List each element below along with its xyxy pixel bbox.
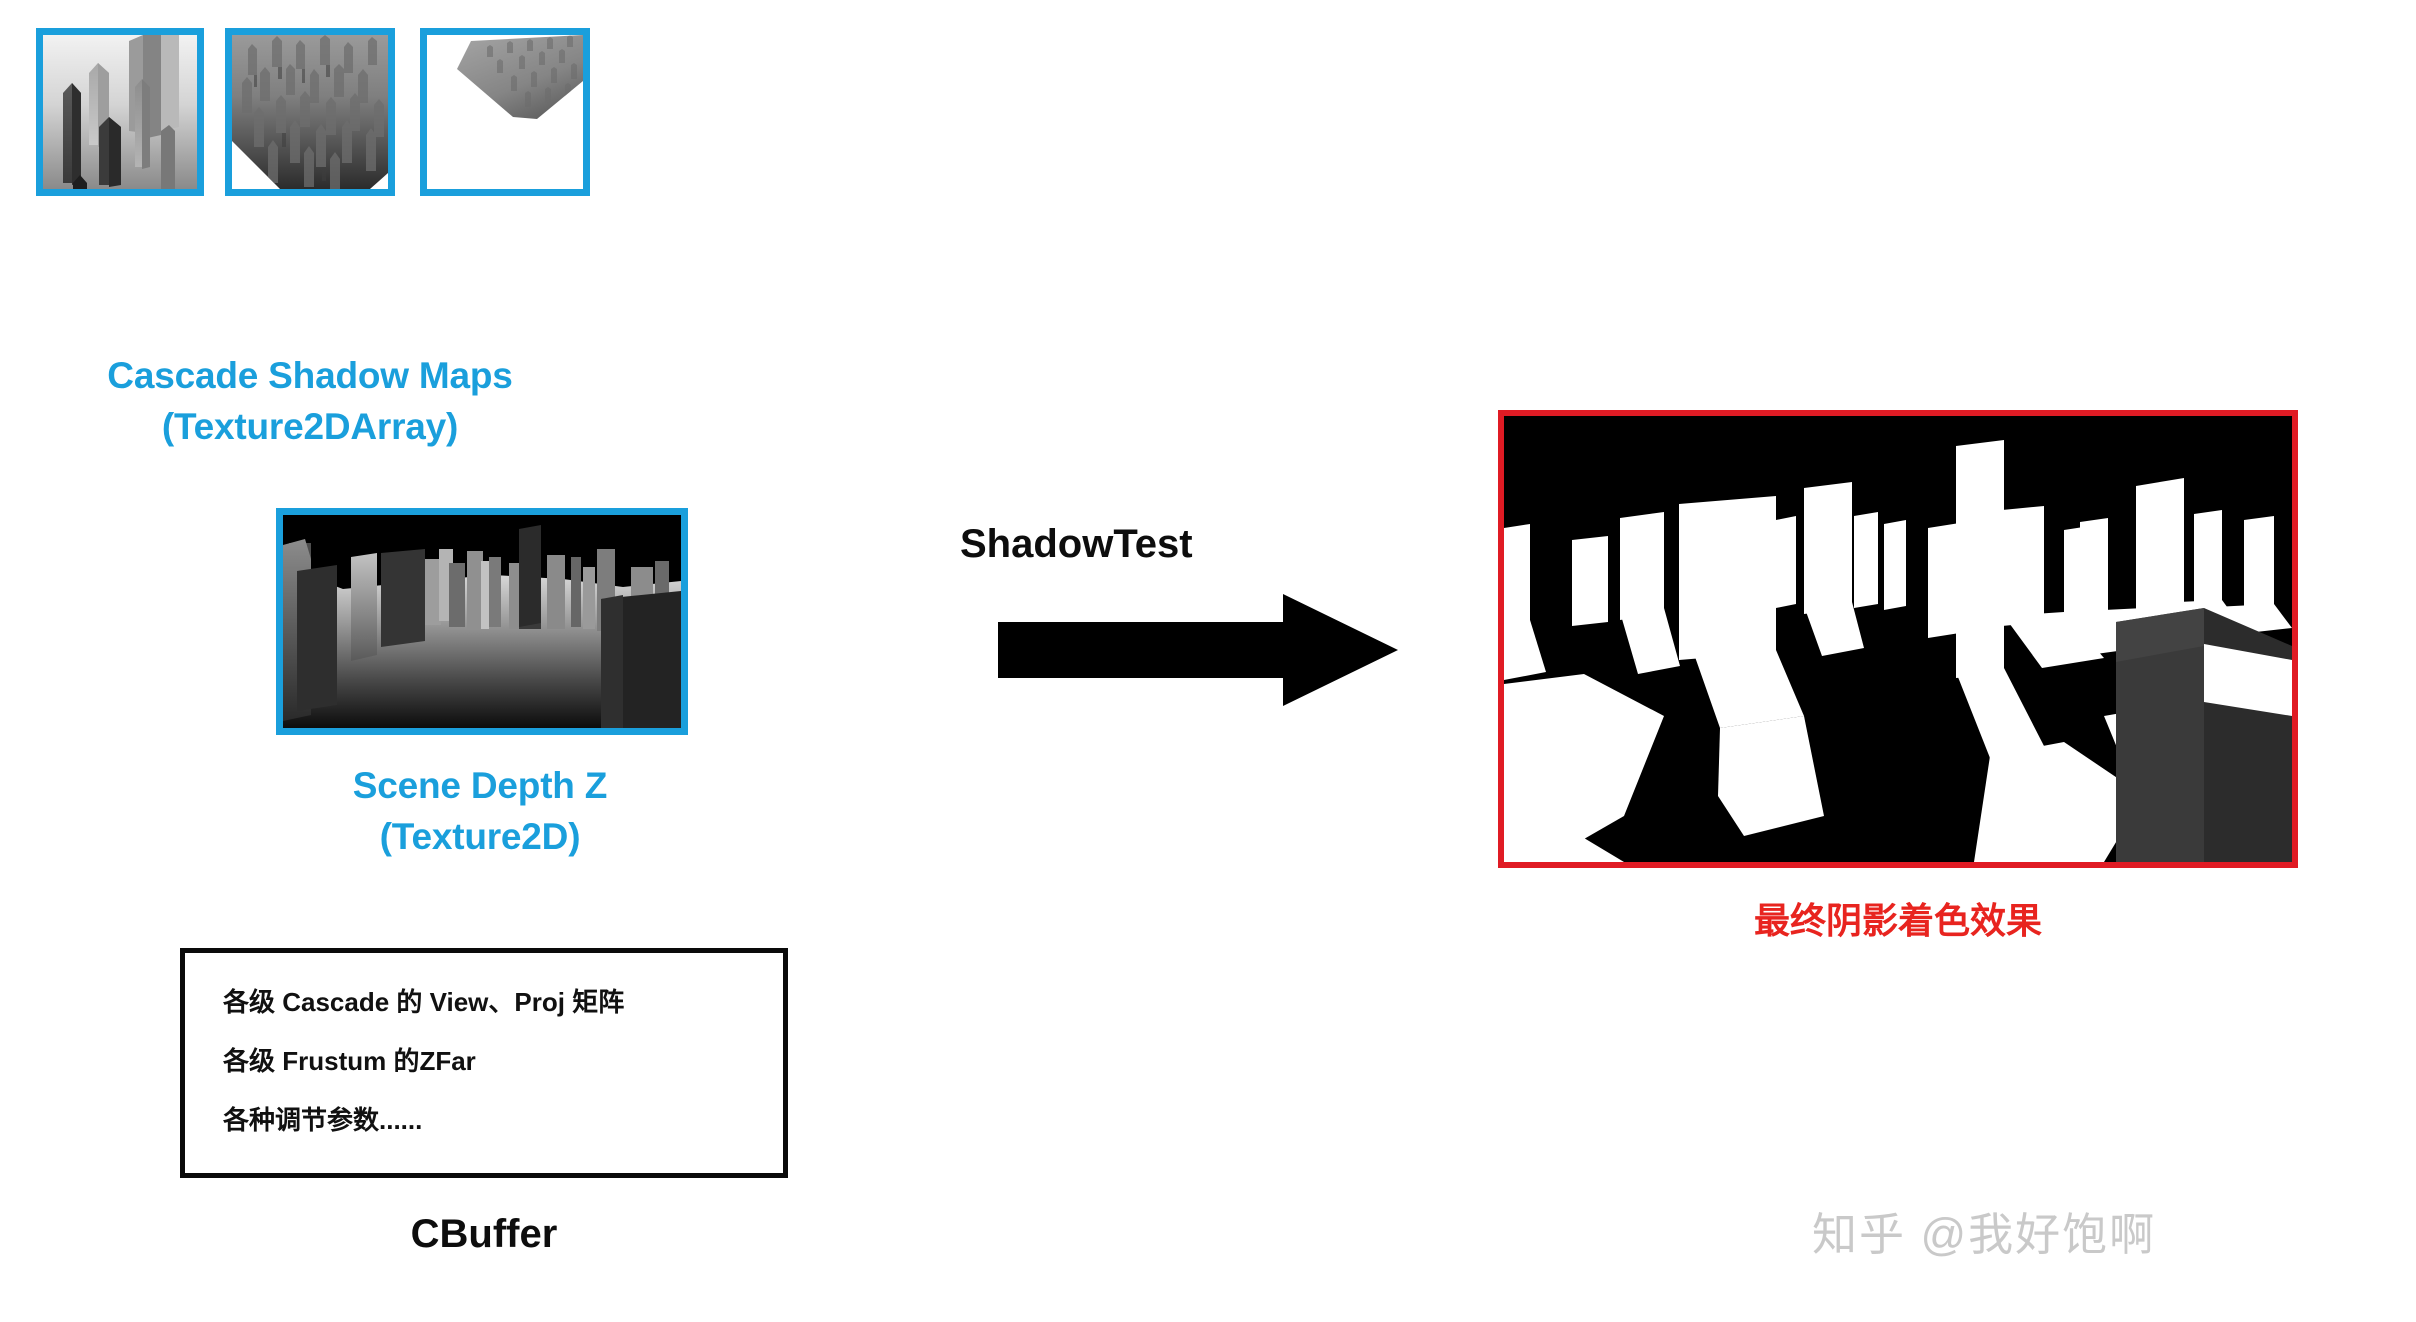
cbuffer-line-3: 各种调节参数...... — [223, 1107, 783, 1133]
cascade-2-thumbnail — [420, 28, 590, 196]
diagram-canvas: Cascade Shadow Maps (Texture2DArray) — [0, 0, 2416, 1322]
cbuffer-caption: CBuffer — [180, 1212, 788, 1257]
scene-depth-label: Scene Depth Z (Texture2D) — [120, 760, 840, 862]
cascade-2-depth-svg — [427, 35, 583, 189]
zhihu-watermark: 知乎 @我好饱啊 — [1812, 1198, 2156, 1263]
cascade-0-thumbnail — [36, 28, 204, 196]
shadow-test-label: ShadowTest — [960, 522, 1380, 567]
scene-depth-svg — [283, 515, 681, 728]
cbuffer-box: 各级 Cascade 的 View、Proj 矩阵 各级 Frustum 的ZF… — [180, 948, 788, 1178]
cbuffer-line-2: 各级 Frustum 的ZFar — [223, 1048, 783, 1074]
cascade-shadow-maps-label: Cascade Shadow Maps (Texture2DArray) — [30, 350, 590, 452]
final-shadow-result-svg — [1504, 416, 2292, 862]
scene-depth-label-line-2: (Texture2D) — [120, 811, 840, 862]
shadow-test-arrow — [998, 592, 1398, 708]
cascade-label-line-2: (Texture2DArray) — [30, 401, 590, 452]
cascade-1-depth-svg — [232, 35, 388, 189]
cascade-0-depth-svg — [43, 35, 197, 189]
arrow-right-icon — [998, 592, 1398, 708]
cascade-1-thumbnail — [225, 28, 395, 196]
cascade-label-line-1: Cascade Shadow Maps — [30, 350, 590, 401]
final-result-caption: 最终阴影着色效果 — [1498, 892, 2298, 944]
scene-depth-label-line-1: Scene Depth Z — [120, 760, 840, 811]
final-shadow-result-image — [1498, 410, 2298, 868]
scene-depth-thumbnail — [276, 508, 688, 735]
cbuffer-line-1: 各级 Cascade 的 View、Proj 矩阵 — [223, 989, 783, 1015]
